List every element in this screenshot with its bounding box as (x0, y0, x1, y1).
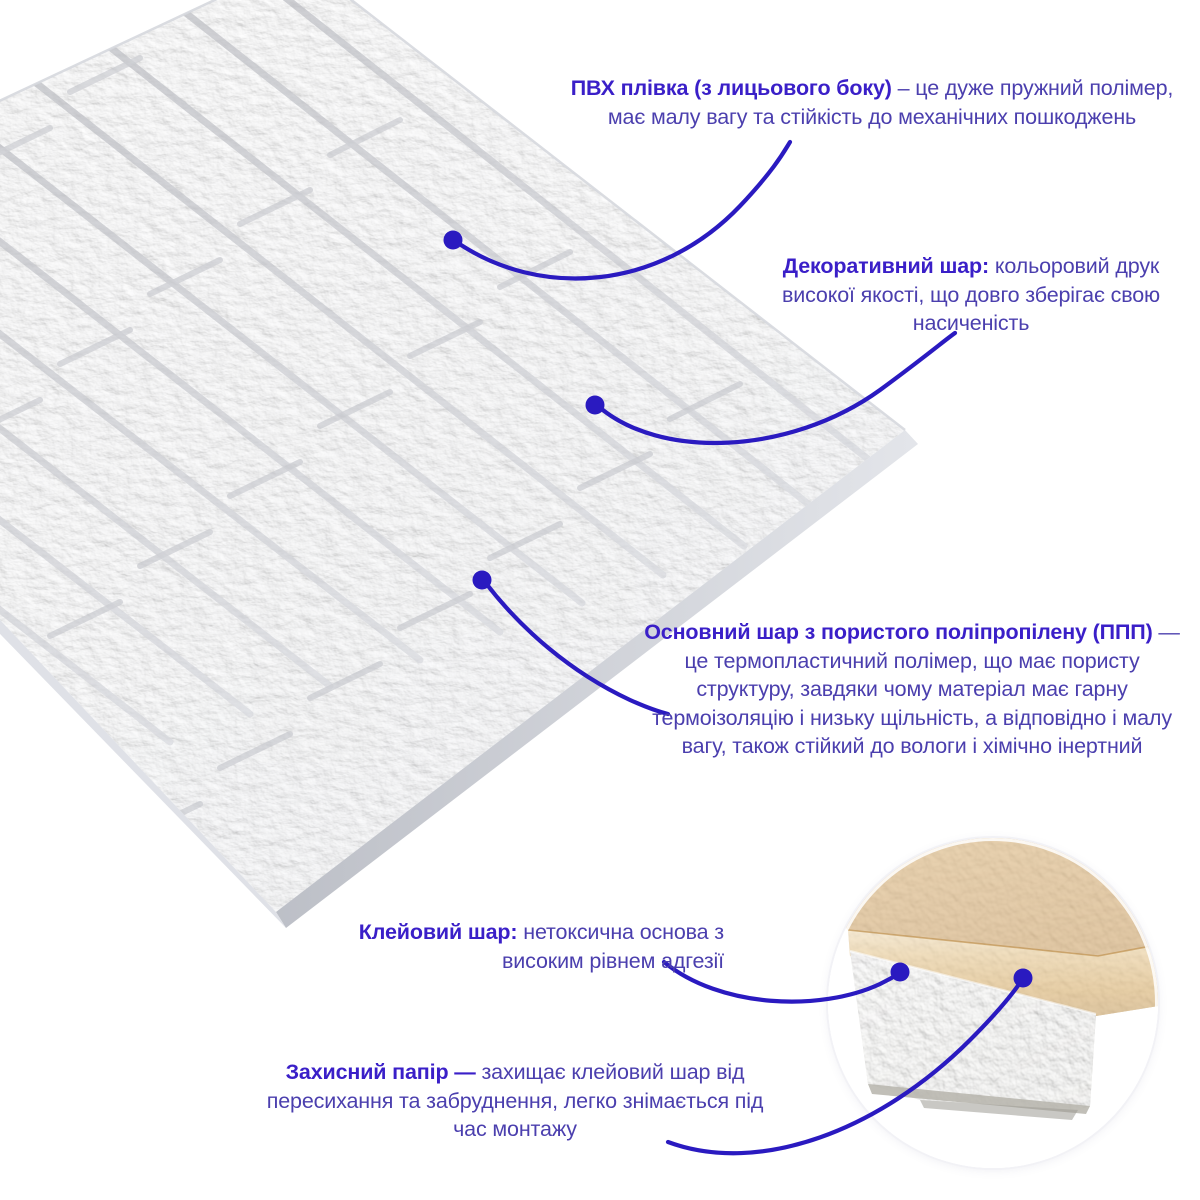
callout-pvc-heading: ПВХ плівка (з лицьового боку) (571, 76, 892, 100)
callout-paper-heading: Захисний папір — (286, 1060, 476, 1084)
panel-corner-photo (828, 838, 1158, 1168)
marker-dot-pvc (444, 231, 463, 250)
marker-dot-decor (586, 396, 605, 415)
leader-line-pvc (455, 142, 790, 278)
callout-decor: Декоративний шар: кольоровий друк високо… (762, 252, 1180, 338)
callout-pvc: ПВХ плівка (з лицьового боку) – це дуже … (560, 74, 1184, 131)
leader-line-decor (598, 333, 955, 443)
callout-base-heading: Основний шар з пористого поліпропілену (… (644, 620, 1152, 644)
callout-decor-heading: Декоративний шар: (783, 254, 989, 278)
infographic-canvas: ПВХ плівка (з лицьового боку) – це дуже … (0, 0, 1200, 1200)
callout-adhesive: Клейовий шар: нетоксична основа з високи… (300, 918, 724, 975)
callout-paper: Захисний папір — захищає клейовий шар ві… (248, 1058, 782, 1144)
marker-dot-base (473, 571, 492, 590)
callout-base: Основний шар з пористого поліпропілену (… (640, 618, 1184, 761)
callout-adhesive-body: нетоксична основа з високим рівнем адгез… (502, 920, 724, 973)
callout-adhesive-heading: Клейовий шар: (359, 920, 518, 944)
